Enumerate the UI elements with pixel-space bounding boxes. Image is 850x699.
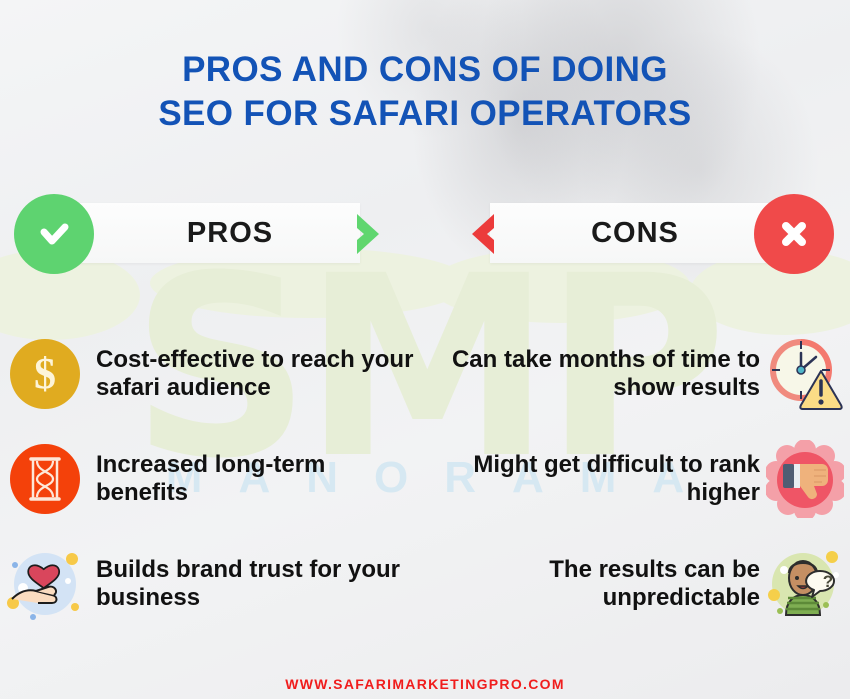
pro-item: Increased long-term benefits — [6, 431, 418, 527]
pros-label: PROS — [150, 203, 310, 263]
thumbs-down-badge-icon — [766, 440, 844, 518]
hand-heart-icon — [6, 545, 84, 623]
svg-text:$: $ — [34, 349, 56, 398]
chevron-left-icon — [454, 210, 502, 258]
page-title: PROS AND CONS OF DOING SEO FOR SAFARI OP… — [0, 48, 850, 136]
con-item: Can take months of time to show results — [420, 326, 844, 422]
clock-warning-icon — [766, 335, 844, 413]
hourglass-circle-icon — [6, 440, 84, 518]
pro-text: Increased long-term benefits — [96, 451, 418, 507]
con-item: Might get difficult to rank higher — [420, 431, 844, 527]
close-circle-icon — [754, 194, 834, 274]
check-circle-icon — [14, 194, 94, 274]
svg-text:?: ? — [823, 572, 833, 591]
pros-cons-banner: PROS CONS — [0, 194, 850, 274]
footer-website[interactable]: WWW.SAFARIMARKETINGPRO.COM — [0, 676, 850, 692]
page-title-line-2: SEO FOR SAFARI OPERATORS — [0, 92, 850, 136]
pro-item: $ Cost-effective to reach your safari au… — [6, 326, 418, 422]
content-row: Increased long-term benefits Might get d… — [0, 431, 850, 527]
person-question-icon: ? — [766, 545, 844, 623]
con-text: Can take months of time to show results — [420, 346, 760, 402]
con-text: The results can be unpredictable — [420, 556, 760, 612]
pro-text: Builds brand trust for your business — [96, 556, 418, 612]
chevron-right-icon — [349, 210, 397, 258]
dollar-circle-icon: $ — [6, 335, 84, 413]
pro-item: Builds brand trust for your business — [6, 536, 418, 632]
content-row: Builds brand trust for your business The… — [0, 536, 850, 632]
con-text: Might get difficult to rank higher — [420, 451, 760, 507]
page-title-line-1: PROS AND CONS OF DOING — [182, 50, 668, 89]
con-item: The results can be unpredictable — [420, 536, 844, 632]
cons-label: CONS — [545, 203, 725, 263]
content-row: $ Cost-effective to reach your safari au… — [0, 326, 850, 422]
pro-text: Cost-effective to reach your safari audi… — [96, 346, 418, 402]
infographic-poster: SMP MANORAMA PROS AND CONS OF DOING SEO … — [0, 0, 850, 699]
